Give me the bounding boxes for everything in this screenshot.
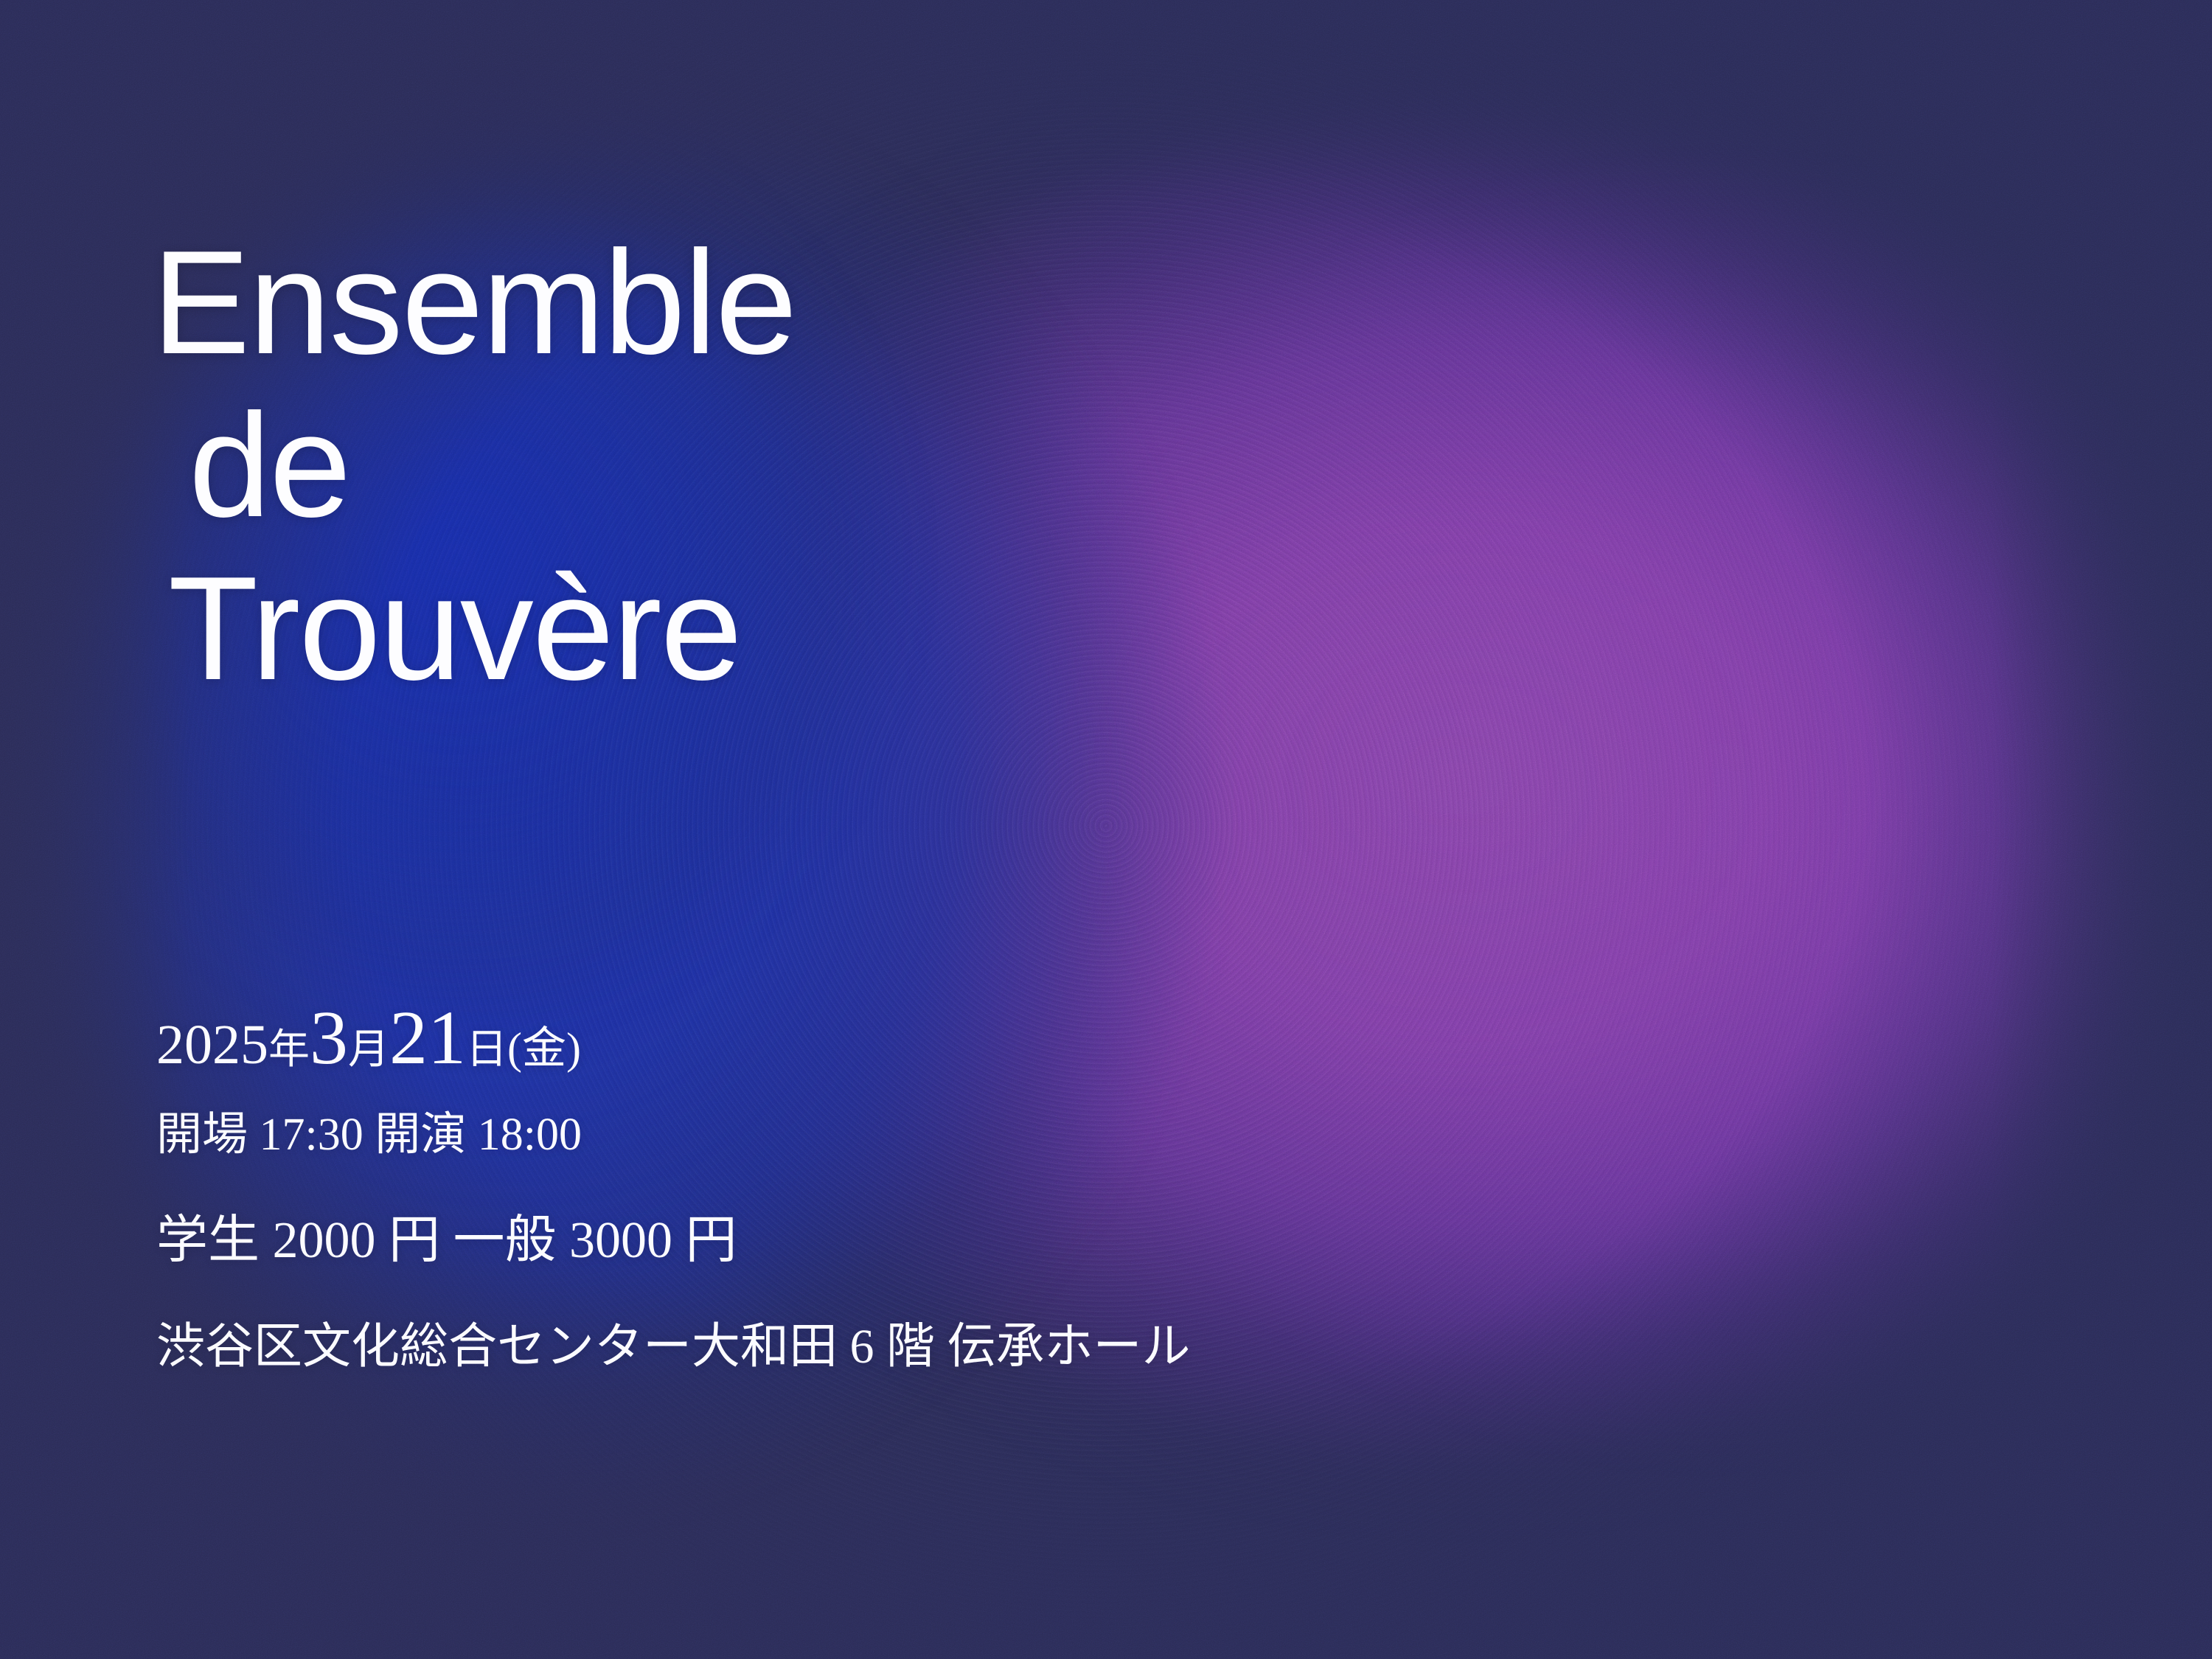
date-year: 2025 xyxy=(156,1014,268,1076)
date-paren-close: ) xyxy=(566,1024,581,1073)
date-year-unit: 年 xyxy=(268,1027,310,1073)
date-day: 21 xyxy=(389,995,466,1080)
event-info-block: 2025年3月21日(金) 開場 17:30 開演 18:00 学生 2000 … xyxy=(156,1000,1191,1371)
event-venue: 渋谷区文化総合センター大和田 6 階 伝承ホール xyxy=(156,1323,1191,1371)
poster-content: Ensemble de Trouvère 2025年3月21日(金) 開場 17… xyxy=(0,0,2212,1659)
title-line-trouvere: Trouvère xyxy=(152,547,796,710)
event-times: 開場 17:30 開演 18:00 xyxy=(156,1112,1191,1158)
date-paren-open: ( xyxy=(507,1024,522,1073)
poster-canvas: Ensemble de Trouvère 2025年3月21日(金) 開場 17… xyxy=(0,0,2212,1659)
date-month-unit: 月 xyxy=(348,1027,389,1073)
ticket-prices: 学生 2000 円 一般 3000 円 xyxy=(156,1215,1191,1267)
title-line-de: de xyxy=(152,384,796,547)
title-line-ensemble: Ensemble xyxy=(152,221,796,384)
date-day-unit: 日 xyxy=(466,1027,507,1073)
title-block: Ensemble de Trouvère xyxy=(152,221,796,710)
date-weekday: 金 xyxy=(522,1024,566,1073)
date-month: 3 xyxy=(310,995,348,1080)
event-date: 2025年3月21日(金) xyxy=(156,1000,1191,1077)
